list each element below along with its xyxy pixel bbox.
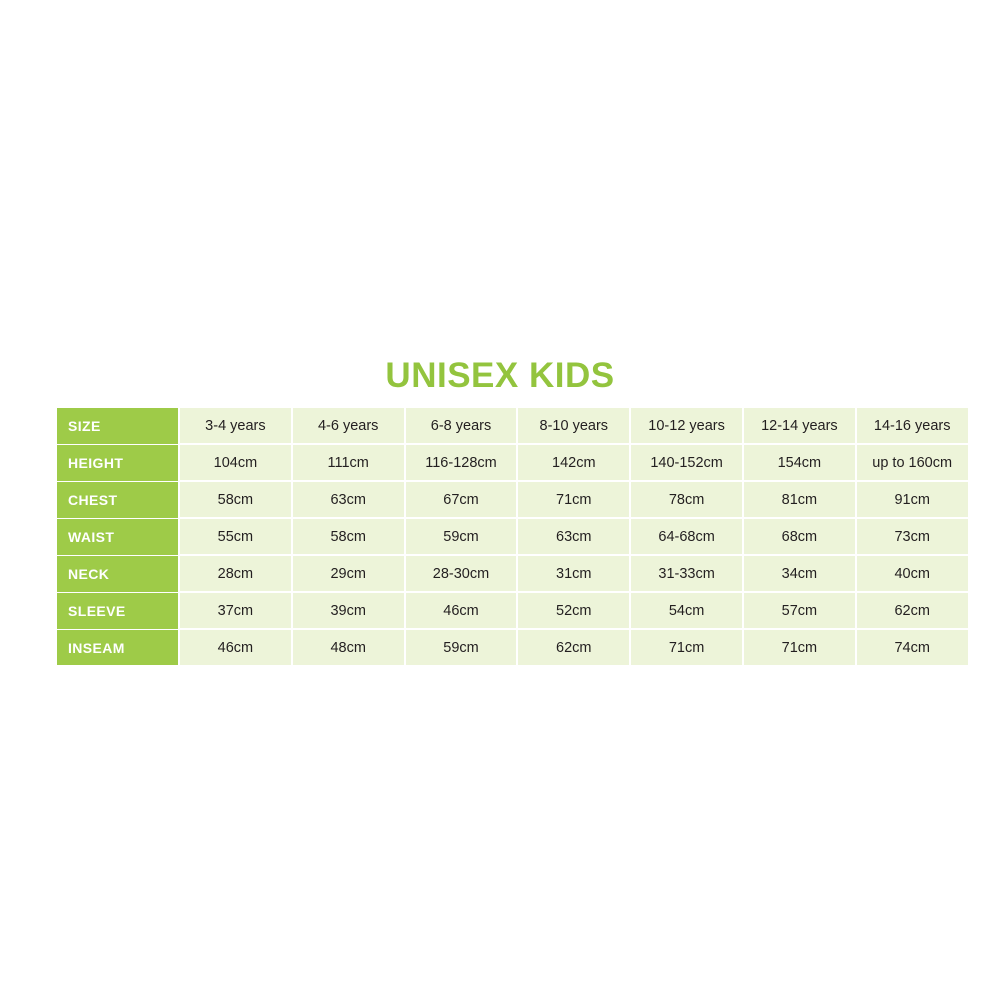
table-cell: 142cm: [518, 445, 631, 482]
table-cell: 31-33cm: [631, 556, 744, 593]
table-cell: 111cm: [293, 445, 406, 482]
table-cell: 91cm: [857, 482, 968, 519]
table-cell: 48cm: [293, 630, 406, 665]
table-cell: 28-30cm: [406, 556, 519, 593]
row-label: SIZE: [57, 408, 180, 445]
table-cell: 154cm: [744, 445, 857, 482]
size-chart-table: SIZE 3-4 years 4-6 years 6-8 years 8-10 …: [57, 408, 968, 665]
table-row: HEIGHT 104cm 111cm 116-128cm 142cm 140-1…: [57, 445, 968, 482]
table-cell: 52cm: [518, 593, 631, 630]
table-cell: 29cm: [293, 556, 406, 593]
table-cell: 46cm: [180, 630, 293, 665]
table-cell: 57cm: [744, 593, 857, 630]
table-cell: 14-16 years: [857, 408, 968, 445]
table-cell: 81cm: [744, 482, 857, 519]
table-cell: 73cm: [857, 519, 968, 556]
table-cell: 67cm: [406, 482, 519, 519]
table-cell: 31cm: [518, 556, 631, 593]
table-cell: 71cm: [744, 630, 857, 665]
table-cell: 34cm: [744, 556, 857, 593]
table-cell: 10-12 years: [631, 408, 744, 445]
row-label: SLEEVE: [57, 593, 180, 630]
table-cell: 62cm: [857, 593, 968, 630]
table-cell: 3-4 years: [180, 408, 293, 445]
table-cell: 6-8 years: [406, 408, 519, 445]
table-cell: 28cm: [180, 556, 293, 593]
table-cell: 78cm: [631, 482, 744, 519]
table-row: CHEST 58cm 63cm 67cm 71cm 78cm 81cm 91cm: [57, 482, 968, 519]
table-cell: 12-14 years: [744, 408, 857, 445]
table-cell: 59cm: [406, 630, 519, 665]
table-row: INSEAM 46cm 48cm 59cm 62cm 71cm 71cm 74c…: [57, 630, 968, 665]
table-row: WAIST 55cm 58cm 59cm 63cm 64-68cm 68cm 7…: [57, 519, 968, 556]
size-chart-page: UNISEX KIDS SIZE 3-4 years 4-6 years 6-8…: [0, 0, 1000, 1000]
page-title: UNISEX KIDS: [0, 358, 1000, 393]
table-cell: 63cm: [293, 482, 406, 519]
table-cell: 39cm: [293, 593, 406, 630]
table-cell: 55cm: [180, 519, 293, 556]
row-label: CHEST: [57, 482, 180, 519]
row-label: NECK: [57, 556, 180, 593]
row-label: INSEAM: [57, 630, 180, 665]
table-cell: 63cm: [518, 519, 631, 556]
table-cell: 46cm: [406, 593, 519, 630]
table-cell: 58cm: [180, 482, 293, 519]
table-cell: 68cm: [744, 519, 857, 556]
table-cell: 74cm: [857, 630, 968, 665]
table-cell: 71cm: [518, 482, 631, 519]
size-chart-table-body: SIZE 3-4 years 4-6 years 6-8 years 8-10 …: [57, 408, 968, 665]
table-row: SLEEVE 37cm 39cm 46cm 52cm 54cm 57cm 62c…: [57, 593, 968, 630]
table-row: SIZE 3-4 years 4-6 years 6-8 years 8-10 …: [57, 408, 968, 445]
table-cell: 140-152cm: [631, 445, 744, 482]
table-cell: 40cm: [857, 556, 968, 593]
table-cell: 37cm: [180, 593, 293, 630]
table-cell: 64-68cm: [631, 519, 744, 556]
table-cell: 58cm: [293, 519, 406, 556]
table-row: NECK 28cm 29cm 28-30cm 31cm 31-33cm 34cm…: [57, 556, 968, 593]
table-cell: 8-10 years: [518, 408, 631, 445]
table-cell: 104cm: [180, 445, 293, 482]
table-cell: 4-6 years: [293, 408, 406, 445]
row-label: HEIGHT: [57, 445, 180, 482]
table-cell: 59cm: [406, 519, 519, 556]
table-cell: 71cm: [631, 630, 744, 665]
table-cell: up to 160cm: [857, 445, 968, 482]
table-cell: 54cm: [631, 593, 744, 630]
table-cell: 116-128cm: [406, 445, 519, 482]
table-cell: 62cm: [518, 630, 631, 665]
row-label: WAIST: [57, 519, 180, 556]
